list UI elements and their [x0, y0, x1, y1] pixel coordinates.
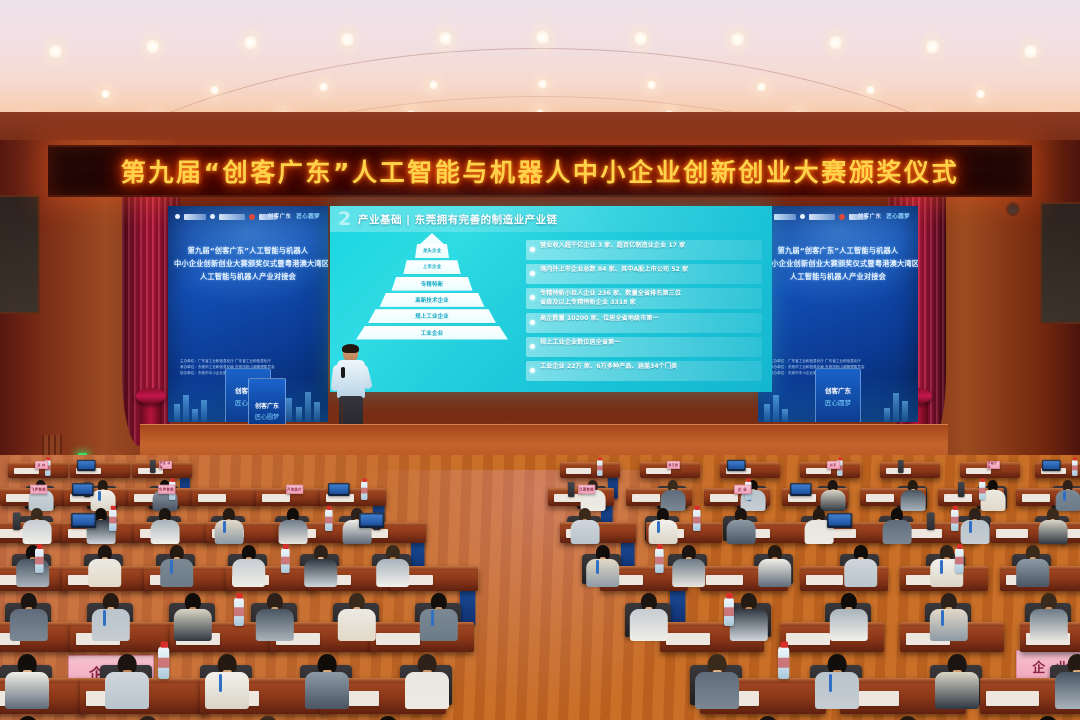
- audience-person: [256, 593, 294, 644]
- board-left-tagline-main: 创客广东: [268, 212, 292, 220]
- laptop-device: [827, 513, 852, 528]
- person-head: [257, 716, 278, 720]
- board-left-tagline: 创客广东 匠心圆梦: [268, 212, 320, 220]
- conference-hall-photo: 第九届“创客广东”人工智能与机器人中小企业创新创业大赛颁奖仪式 创客广东 匠心圆…: [0, 0, 1080, 720]
- lanyard: [657, 521, 660, 533]
- water-bottle: [158, 647, 169, 680]
- audience-person: [338, 593, 376, 644]
- board-right-rollup: 创客广东 匠心圆梦: [815, 368, 861, 422]
- laptop-device: [727, 460, 746, 471]
- table-namecard-label: 罗亚 冰海: [160, 461, 172, 468]
- pyramid-tier-label: 工业企业: [421, 329, 443, 337]
- audience-person: [88, 545, 122, 590]
- lanyard: [103, 610, 106, 626]
- person-torso: [935, 672, 979, 709]
- ceiling-light-1-6: [536, 28, 549, 47]
- audience-person: [304, 545, 338, 590]
- desk-paper: [986, 691, 1039, 706]
- person-torso: [305, 672, 349, 709]
- audience-person: [5, 654, 49, 712]
- table-namecard-label: 汉源智能: [579, 487, 594, 491]
- table-namecard-label: 杜军: [830, 463, 836, 467]
- ceiling-light-1-7: [634, 29, 647, 48]
- board-left-title-line-3: 人工智能与机器人产业对接会: [174, 270, 322, 283]
- table-namecard: 汉源智能: [578, 484, 595, 493]
- curtain-left-tieback: [136, 388, 166, 404]
- audience-person: [830, 593, 868, 644]
- slide-bullet-4: 高企数量 10200 家、位居全省地级市第一: [526, 313, 762, 333]
- led-banner-text: 第九届“创客广东”人工智能与机器人中小企业创新创业大赛颁奖仪式: [121, 153, 959, 189]
- lanyard: [969, 521, 972, 533]
- person-torso: [376, 559, 410, 588]
- audience-person: [630, 593, 668, 644]
- table-namecard-label: 黄艺群: [669, 463, 679, 467]
- board-left-title-line-1: 第九届“创客广东”人工智能与机器人: [174, 244, 322, 257]
- ceiling-light-2-7: [757, 81, 766, 93]
- audience-person: [1023, 716, 1073, 720]
- ceiling-light-1-8: [731, 30, 744, 49]
- table-namecard: 齐地医疗: [286, 484, 303, 493]
- audience-person: [1038, 508, 1067, 546]
- stage-rollup-line1: 创客广东: [255, 401, 279, 410]
- lanyard: [940, 560, 943, 574]
- ceiling-light-1-1: [49, 42, 62, 61]
- desk-paper: [376, 633, 420, 646]
- audience-person: [743, 716, 793, 720]
- audience-person: [22, 508, 51, 546]
- table-namecard: 罗彬开伟: [987, 461, 1000, 469]
- audience-person: [3, 716, 53, 720]
- desk-paper: [786, 633, 830, 646]
- audience-person: [1055, 654, 1080, 712]
- person-head: [377, 716, 398, 720]
- lanyard: [223, 521, 226, 533]
- audience-person: [883, 716, 933, 720]
- person-torso: [174, 609, 212, 642]
- audience-person: [672, 545, 706, 590]
- sponsor-logo-icon-2: [774, 214, 796, 220]
- water-bottle: [979, 481, 985, 500]
- left-acoustic-panel: [0, 195, 40, 314]
- person-torso: [405, 672, 449, 709]
- person-torso: [844, 559, 878, 588]
- lanyard: [596, 560, 599, 574]
- laptop-device: [1042, 460, 1061, 471]
- audience-person: [92, 593, 130, 644]
- board-right-rollup-line1: 创客广东: [825, 385, 851, 395]
- slide-bullet-5: 规上工业企业数位居全省第一: [526, 337, 762, 357]
- board-right-title-line-3: 人工智能与机器人产业对接会: [764, 270, 912, 283]
- slide-bullet-6-line-1: 工业企业 22万 家、6万多种产品、涵盖34个门类: [540, 363, 758, 372]
- laptop-device: [328, 483, 350, 496]
- desk-paper: [1066, 529, 1080, 538]
- person-torso: [758, 559, 792, 588]
- thermos-tumbler: [13, 512, 21, 530]
- person-torso: [1038, 520, 1067, 544]
- sponsor-logo-icon-4: [219, 214, 245, 220]
- audience-person: [405, 654, 449, 712]
- slide-bullet-4-line-1: 高企数量 10200 家、位居全省地级市第一: [540, 315, 758, 324]
- person-torso: [1016, 559, 1050, 588]
- audience-person: [758, 545, 792, 590]
- audience-person: [160, 545, 194, 590]
- ceiling-light-2-8: [866, 84, 875, 96]
- audience-person: [815, 654, 859, 712]
- audience-person: [278, 508, 307, 546]
- audience-person: [232, 545, 266, 590]
- thermos-tumbler: [898, 460, 904, 473]
- lanyard: [219, 674, 222, 692]
- audience-person: [420, 593, 458, 644]
- board-right-tagline-main: 创客广东: [858, 212, 882, 220]
- board-left-tagline-sub: 匠心圆梦: [296, 212, 320, 220]
- person-torso: [88, 559, 122, 588]
- sponsor-logo-icon-3: [800, 214, 805, 219]
- board-left-title: 第九届“创客广东”人工智能与机器人 中小企业创新创业大赛颁奖仪式暨粤港澳大湾区 …: [174, 244, 322, 283]
- ceiling-light-1-2: [146, 37, 159, 56]
- audience-person: [844, 545, 878, 590]
- person-torso: [586, 559, 620, 588]
- slide-bullet-1: 营业收入超千亿企业 3 家、超百亿制造业企业 17 家: [526, 240, 762, 260]
- water-bottle: [597, 459, 603, 475]
- ceiling-light-2-1: [101, 88, 110, 100]
- conference-bag: [460, 587, 475, 625]
- speaker-hair: [342, 344, 359, 353]
- desk-paper: [866, 494, 894, 502]
- sponsor-logo-icon-5: [249, 214, 255, 220]
- table-namecard: 飞声智能: [30, 484, 47, 493]
- table-namecard: 黄艺群: [667, 461, 680, 469]
- board-right-tagline: 创客广东 匠心圆梦: [858, 212, 910, 220]
- slide-bullet-1-line-1: 营业收入超千亿企业 3 家、超百亿制造业企业 17 家: [540, 242, 758, 251]
- thermos-tumbler: [958, 482, 964, 497]
- lanyard: [1063, 491, 1066, 501]
- pyramid-tier-label: 上市企业: [423, 264, 441, 270]
- microphone-icon: [341, 367, 345, 378]
- person-torso: [630, 609, 668, 642]
- audience-person: [105, 654, 149, 712]
- board-right-title-line-2: 中小企业创新创业大赛颁奖仪式暨粤港澳大湾区: [764, 257, 912, 270]
- slide-bullet-3: 专精特新小巨人企业 236 家、数量全省排名第三位省级及以上专精特新企业 331…: [526, 288, 762, 309]
- backdrop-board-right: 创客广东 匠心圆梦 第九届“创客广东”人工智能与机器人 中小企业创新创业大赛颁奖…: [758, 206, 918, 422]
- audience-person: [882, 508, 911, 546]
- person-torso: [960, 520, 989, 544]
- person-torso: [150, 520, 179, 544]
- ceiling-light-1-9: [829, 33, 842, 52]
- sponsor-logo-icon-3: [210, 214, 215, 219]
- audience-person: [16, 545, 50, 590]
- slide-pyramid-chart: 龙头企业上市企业专精特新高新技术企业规上工业企业工业企业: [352, 238, 512, 386]
- table-namecard-label: 企 业: [738, 487, 747, 491]
- right-acoustic-panel: [1040, 202, 1080, 324]
- person-torso: [10, 609, 48, 642]
- audience-person: [305, 654, 349, 712]
- desk-paper: [198, 494, 226, 502]
- audience-person: [648, 508, 677, 546]
- person-head: [897, 716, 918, 720]
- water-bottle: [35, 548, 44, 573]
- right-loudspeaker: [1006, 202, 1020, 216]
- person-torso: [92, 609, 130, 642]
- desk-paper: [262, 494, 290, 502]
- table-namecard: 罗亚 冰海: [159, 461, 172, 469]
- slide-bullet-2: 境内外上市企业总数 84 家、其中A股上市公司 52 家: [526, 264, 762, 284]
- laptop-device: [359, 513, 384, 528]
- audience-person: [1030, 593, 1068, 644]
- pyramid-tier-4: 高新技术企业: [380, 293, 485, 307]
- desk-paper: [666, 633, 710, 646]
- sponsor-logo-icon-2: [184, 214, 206, 220]
- audience-person: [363, 716, 413, 720]
- person-torso: [160, 559, 194, 588]
- lanyard: [941, 610, 944, 626]
- audience-person: [150, 508, 179, 546]
- sponsor-logo-icon-5: [839, 214, 845, 220]
- water-bottle: [281, 548, 290, 573]
- audience-person: [123, 716, 173, 720]
- person-torso: [695, 672, 739, 709]
- person-torso: [726, 520, 755, 544]
- person-torso: [672, 559, 706, 588]
- sponsor-logo-icon-1: [175, 214, 180, 219]
- table-namecard: 杜军: [827, 461, 840, 469]
- slide-bullet-5-line-1: 规上工业企业数位居全省第一: [540, 339, 758, 348]
- person-torso: [648, 520, 677, 544]
- slide-bullet-2-line-1: 境内外上市企业总数 84 家、其中A股上市公司 52 家: [540, 266, 758, 275]
- ceiling-light-2-5: [538, 78, 547, 90]
- table-namecard-label: 飞声智能: [31, 487, 46, 491]
- person-head: [1037, 716, 1058, 720]
- ceiling-light-2-3: [319, 81, 328, 93]
- person-torso: [730, 609, 768, 642]
- stage-rollup-line2: 匠心圆梦: [255, 412, 279, 421]
- board-left-title-line-2: 中小企业创新创业大赛颁奖仪式暨粤港澳大湾区: [174, 257, 322, 270]
- person-head: [17, 716, 38, 720]
- desk-paper: [710, 494, 738, 502]
- pyramid-apex: [419, 233, 445, 245]
- audience-person: [1016, 545, 1050, 590]
- water-bottle: [951, 509, 959, 531]
- thermos-tumbler: [568, 482, 574, 497]
- desk-paper: [706, 575, 743, 586]
- led-banner: 第九届“创客广东”人工智能与机器人中小企业创新创业大赛颁奖仪式: [48, 145, 1032, 197]
- person-torso: [930, 609, 968, 642]
- ceiling-light-1-11: [1024, 42, 1037, 61]
- slide-bullet-3-line-1: 专精特新小巨人企业 236 家、数量全省排名第三位: [540, 290, 758, 299]
- person-torso: [830, 609, 868, 642]
- person-torso: [214, 520, 243, 544]
- water-bottle: [361, 481, 367, 500]
- person-torso: [256, 609, 294, 642]
- water-bottle: [109, 509, 117, 531]
- desk-paper: [806, 575, 843, 586]
- pyramid-tier-label: 高新技术企业: [415, 296, 449, 304]
- conference-bag: [670, 587, 685, 625]
- person-torso: [16, 559, 50, 588]
- slide-title: 产业基础 | 东莞拥有完善的制造业产业链: [358, 212, 558, 227]
- lanyard: [98, 491, 101, 501]
- person-torso: [570, 520, 599, 544]
- thermos-tumbler: [927, 512, 935, 530]
- pyramid-tier-1: 龙头企业: [415, 244, 449, 258]
- water-bottle: [234, 597, 244, 626]
- lanyard: [170, 560, 173, 574]
- person-torso: [338, 609, 376, 642]
- board-right-title-line-1: 第九届“创客广东”人工智能与机器人: [764, 244, 912, 257]
- laptop-device: [790, 483, 812, 496]
- board-right-rollup-line2: 匠心圆梦: [825, 397, 851, 407]
- water-bottle: [325, 509, 333, 531]
- person-head: [137, 716, 158, 720]
- pyramid-tier-2: 上市企业: [403, 260, 461, 274]
- audience-person: [695, 654, 739, 712]
- person-torso: [815, 672, 859, 709]
- thermos-tumbler: [150, 460, 156, 473]
- ceiling-light-1-5: [439, 29, 452, 48]
- desk-paper: [996, 529, 1028, 538]
- lanyard: [829, 674, 832, 692]
- lanyard: [431, 610, 434, 626]
- desk-paper: [910, 529, 942, 538]
- person-head: [757, 716, 778, 720]
- audience-person: [10, 593, 48, 644]
- audience-person: [214, 508, 243, 546]
- water-bottle: [778, 647, 789, 680]
- audience-person: [570, 508, 599, 546]
- ceiling-light-1-4: [341, 30, 354, 49]
- person-torso: [1030, 609, 1068, 642]
- board-right-tagline-sub: 匠心圆梦: [886, 212, 910, 220]
- ceiling-light-1-3: [244, 33, 257, 52]
- pyramid-tier-3: 专精特新: [391, 277, 472, 291]
- laptop-device: [71, 513, 96, 528]
- person-torso: [420, 609, 458, 642]
- water-bottle: [1072, 459, 1078, 475]
- person-torso: [105, 672, 149, 709]
- ceiling-light-2-2: [210, 84, 219, 96]
- desk-paper: [1022, 494, 1050, 502]
- person-torso: [205, 672, 249, 709]
- person-torso: [232, 559, 266, 588]
- water-bottle: [693, 509, 701, 531]
- ceiling-light-1-10: [926, 37, 939, 56]
- table-namecard-label: 齐地医疗: [287, 487, 302, 491]
- person-torso: [278, 520, 307, 544]
- audience-person: [930, 593, 968, 644]
- water-bottle: [724, 597, 734, 626]
- table-namecard-label: 华声智能: [159, 487, 174, 491]
- pyramid-tier-label: 规上工业企业: [415, 312, 449, 320]
- laptop-device: [77, 460, 96, 471]
- presentation-screen: 2 产业基础 | 东莞拥有完善的制造业产业链 龙头企业上市企业专精特新高新技术企…: [330, 206, 772, 392]
- pyramid-tier-6: 工业企业: [356, 326, 508, 340]
- audience-person: [726, 508, 755, 546]
- board-right-title: 第九届“创客广东”人工智能与机器人 中小企业创新创业大赛颁奖仪式暨粤港澳大湾区 …: [764, 244, 912, 283]
- person-torso: [304, 559, 338, 588]
- pyramid-tier-label: 专精特新: [421, 280, 443, 288]
- desk-paper: [566, 468, 591, 475]
- slide-section-number: 2: [338, 208, 351, 230]
- laptop-device: [72, 483, 94, 496]
- audience-person: [730, 593, 768, 644]
- table-namecard-label: 高 林: [37, 463, 45, 467]
- audience-person: [935, 654, 979, 712]
- audience-person: [376, 545, 410, 590]
- desk-paper: [632, 494, 660, 502]
- person-torso: [22, 520, 51, 544]
- water-bottle: [655, 548, 664, 573]
- person-torso: [1055, 672, 1080, 709]
- pyramid-tier-label: 龙头企业: [423, 248, 441, 254]
- audience-person: [205, 654, 249, 712]
- audience-person: [586, 545, 620, 590]
- table-namecard: 高 林: [35, 461, 48, 469]
- slide-header: 2 产业基础 | 东莞拥有完善的制造业产业链: [330, 206, 772, 232]
- audience-person: [960, 508, 989, 546]
- slide-bullet-6: 工业企业 22万 家、6万多种产品、涵盖34个门类: [526, 361, 762, 381]
- audience-person: [243, 716, 293, 720]
- ceiling-light-2-9: [976, 88, 985, 100]
- person-torso: [5, 672, 49, 709]
- table-namecard: 华声智能: [158, 484, 175, 493]
- slide-bullet-3-line-2: 省级及以上专精特新企业 3318 家: [540, 299, 758, 308]
- sponsor-logo-icon-4: [809, 214, 835, 220]
- table-namecard-label: 罗彬开伟: [988, 461, 1000, 468]
- water-bottle: [955, 548, 964, 573]
- slide-bullet-list: 营业收入超千亿企业 3 家、超百亿制造业企业 17 家境内外上市企业总数 84 …: [526, 240, 762, 385]
- pyramid-tier-5: 规上工业企业: [368, 309, 496, 323]
- person-torso: [882, 520, 911, 544]
- audience-person: [174, 593, 212, 644]
- table-namecard: 企 业: [734, 484, 751, 493]
- ceiling-light-2-4: [429, 79, 438, 91]
